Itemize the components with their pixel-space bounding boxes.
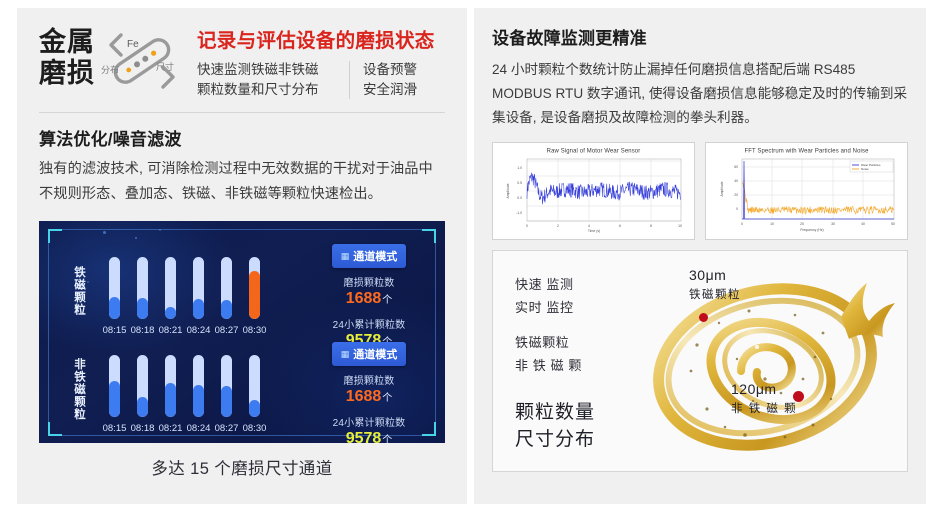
frame-corner xyxy=(422,229,436,243)
bar-fill xyxy=(109,381,120,417)
stat-value: 1688个 xyxy=(313,387,425,408)
chart-fft-plot: 60 40 20 0 0 10 20 30 40 50 Frequency (H… xyxy=(712,153,902,233)
illustration-text-block: 快速 监测 实时 监控 铁磁颗粒 非 铁 磁 颗 颗粒数量 尺寸分布 xyxy=(515,273,595,453)
bar-track xyxy=(165,355,176,417)
chart-fft-spectrum: FFT Spectrum with Wear Particles and Noi… xyxy=(705,142,908,240)
svg-text:Amplitude: Amplitude xyxy=(720,181,724,196)
stat-label: 24小累计颗粒数 xyxy=(313,414,425,429)
channel-ferrous: 铁磁颗粒 08:1508:1808:2108:2408:2708:30 ▦ 通道… xyxy=(59,242,425,340)
illus-spacer xyxy=(515,319,595,331)
wear-sensor-icon: Fe 分布 尺寸 xyxy=(101,27,183,95)
svg-text:30: 30 xyxy=(831,222,835,226)
header-divider xyxy=(39,112,445,113)
bar-column: 08:30 xyxy=(249,355,260,434)
svg-text:60: 60 xyxy=(734,165,738,169)
svg-text:0.5: 0.5 xyxy=(517,181,522,185)
channel-bar-chart: 08:1508:1808:2108:2408:2708:30 xyxy=(93,340,307,438)
bar-time-label: 08:24 xyxy=(187,423,211,434)
bar-track xyxy=(137,355,148,417)
stat-label: 磨损颗粒数 xyxy=(313,372,425,387)
illus-line-2: 实时 监控 xyxy=(515,296,595,319)
bar-fill xyxy=(109,297,120,319)
device-screen: 铁磁颗粒 08:1508:1808:2108:2408:2708:30 ▦ 通道… xyxy=(39,221,445,443)
bar-track xyxy=(249,355,260,417)
legend-label-noise: Noise xyxy=(861,167,869,171)
channel-mode-button[interactable]: ▦ 通道模式 xyxy=(332,342,407,366)
logo-label-distribution: 分布 xyxy=(101,63,119,76)
feature-column-left: 快速监测铁磁非铁磁 颗粒数量和尺寸分布 xyxy=(197,60,349,100)
bar-column: 08:15 xyxy=(109,257,120,336)
svg-text:8: 8 xyxy=(650,224,652,228)
bar-time-label: 08:18 xyxy=(131,325,155,336)
bar-track xyxy=(193,355,204,417)
brand-header: 金属 磨损 xyxy=(39,26,445,100)
chart-title: FFT Spectrum with Wear Particles and Noi… xyxy=(705,147,908,154)
svg-text:Time (s): Time (s) xyxy=(587,229,599,233)
svg-text:40: 40 xyxy=(861,222,865,226)
bar-track xyxy=(165,257,176,319)
brand-name: 金属 磨损 xyxy=(39,26,95,89)
channel-bar-chart: 08:1508:1808:2108:2408:2708:30 xyxy=(93,242,307,340)
bar-fill xyxy=(249,271,260,319)
chart-legend: Wear Particles Noise xyxy=(850,161,893,172)
svg-text:0.0: 0.0 xyxy=(517,196,522,200)
stat-number: 9578 xyxy=(346,430,382,443)
stat-label: 24小累计颗粒数 xyxy=(313,316,425,331)
bar-time-label: 08:18 xyxy=(131,423,155,434)
annotation-name: 铁磁颗粒 xyxy=(689,286,741,302)
feature-right-2: 安全润滑 xyxy=(363,80,443,100)
svg-text:20: 20 xyxy=(800,222,804,226)
bar-time-label: 08:24 xyxy=(187,325,211,336)
bar-column: 08:21 xyxy=(165,355,176,434)
svg-text:0: 0 xyxy=(736,207,738,211)
brand-line-1: 金属 xyxy=(39,27,95,58)
oil-swirl-graphic xyxy=(645,259,908,469)
feature-divider xyxy=(349,61,350,99)
channel-label: 非铁磁颗粒 xyxy=(59,340,93,438)
svg-text:1.0: 1.0 xyxy=(517,166,522,170)
svg-text:20: 20 xyxy=(734,193,738,197)
bar-fill xyxy=(165,383,176,417)
frame-corner xyxy=(48,229,62,243)
charts-row: Raw Signal of Motor Wear Sensor 1.0 0.5 xyxy=(492,142,908,240)
svg-text:10: 10 xyxy=(770,222,774,226)
bar-fill xyxy=(165,307,176,319)
bar-column: 08:18 xyxy=(137,355,148,434)
chart-title: Raw Signal of Motor Wear Sensor xyxy=(492,147,695,154)
section-title: 算法优化/噪音滤波 xyxy=(39,125,445,150)
bar-column: 08:24 xyxy=(193,355,204,434)
svg-text:40: 40 xyxy=(734,179,738,183)
right-title: 设备故障监测更精准 xyxy=(492,24,908,49)
illus-big-line-1: 颗粒数量 xyxy=(515,399,595,426)
logo-label-fe: Fe xyxy=(127,39,139,50)
left-panel: 金属 磨损 xyxy=(17,8,467,504)
stat-wear-count: 磨损颗粒数 1688个 xyxy=(313,274,425,310)
annotation-name: 非 铁 磁 颗 xyxy=(731,400,797,416)
logo-label-size: 尺寸 xyxy=(156,60,174,73)
annotation-non-ferrous: 120μm 非 铁 磁 颗 xyxy=(731,381,797,416)
feature-column-right: 设备预警 安全润滑 xyxy=(363,60,443,100)
brand-line-2: 磨损 xyxy=(39,58,95,89)
channel-stats: ▦ 通道模式 磨损颗粒数 1688个 24小累计颗粒数 9 xyxy=(307,242,425,340)
bar-time-label: 08:27 xyxy=(215,325,239,336)
svg-text:0: 0 xyxy=(526,224,528,228)
bar-time-label: 08:21 xyxy=(159,423,183,434)
stat-number: 1688 xyxy=(346,388,382,405)
bar-fill xyxy=(137,397,148,417)
grid-icon: ▦ xyxy=(341,251,350,262)
bar-fill xyxy=(193,385,204,417)
svg-text:4: 4 xyxy=(588,224,590,228)
stat-unit: 个 xyxy=(382,295,392,306)
headline-block: 记录与评估设备的磨损状态 快速监测铁磁非铁磁 颗粒数量和尺寸分布 设备预警 安全… xyxy=(197,26,443,100)
oil-particle-illustration: 快速 监测 实时 监控 铁磁颗粒 非 铁 磁 颗 颗粒数量 尺寸分布 xyxy=(492,250,908,472)
bar-column: 08:30 xyxy=(249,257,260,336)
channel-mode-label: 通道模式 xyxy=(353,346,397,362)
bar-column: 08:27 xyxy=(221,257,232,336)
illus-big-line-2: 尺寸分布 xyxy=(515,426,595,453)
stat-value: 1688个 xyxy=(313,289,425,310)
bar-track xyxy=(221,355,232,417)
device-frame: 铁磁颗粒 08:1508:1808:2108:2408:2708:30 ▦ 通道… xyxy=(48,229,436,436)
stat-label: 磨损颗粒数 xyxy=(313,274,425,289)
bar-track xyxy=(249,257,260,319)
bar-fill xyxy=(193,299,204,319)
right-panel: 设备故障监测更精准 24 小时颗粒个数统计防止漏掉任何磨损信息搭配后端 RS48… xyxy=(474,8,926,504)
bar-track xyxy=(109,257,120,319)
bar-track xyxy=(193,257,204,319)
svg-text:10: 10 xyxy=(678,224,682,228)
stat-number: 1688 xyxy=(346,290,382,307)
svg-text:6: 6 xyxy=(619,224,621,228)
illus-line-3: 铁磁颗粒 xyxy=(515,331,595,354)
bar-column: 08:15 xyxy=(109,355,120,434)
feature-right-1: 设备预警 xyxy=(363,60,443,80)
bar-column: 08:24 xyxy=(193,257,204,336)
bar-column: 08:27 xyxy=(221,355,232,434)
svg-text:Amplitude: Amplitude xyxy=(506,183,510,198)
stat-unit: 个 xyxy=(382,393,392,404)
illus-line-4: 非 铁 磁 颗 xyxy=(515,354,595,377)
right-body: 24 小时颗粒个数统计防止漏掉任何磨损信息搭配后端 RS485 MODBUS R… xyxy=(492,58,908,130)
channel-non-ferrous: 非铁磁颗粒 08:1508:1808:2108:2408:2708:30 ▦ 通… xyxy=(59,340,425,438)
grid-icon: ▦ xyxy=(341,349,350,360)
feature-left-1: 快速监测铁磁非铁磁 xyxy=(197,60,349,80)
stat-24h-count: 24小累计颗粒数 9578个 xyxy=(313,414,425,443)
bar-fill xyxy=(221,300,232,319)
bar-track xyxy=(137,257,148,319)
channel-mode-label: 通道模式 xyxy=(353,248,397,264)
svg-text:Frequency (Hz): Frequency (Hz) xyxy=(800,228,823,232)
svg-text:50: 50 xyxy=(891,222,895,226)
bar-time-label: 08:15 xyxy=(103,325,127,336)
bar-time-label: 08:15 xyxy=(103,423,127,434)
bar-time-label: 08:27 xyxy=(215,423,239,434)
illus-line-1: 快速 监测 xyxy=(515,273,595,296)
channel-stats: ▦ 通道模式 磨损颗粒数 1688个 24小累计颗粒数 9 xyxy=(307,340,425,438)
headline: 记录与评估设备的磨损状态 xyxy=(197,29,443,53)
bar-track xyxy=(221,257,232,319)
feature-left-2: 颗粒数量和尺寸分布 xyxy=(197,80,349,100)
svg-text:-1.0: -1.0 xyxy=(516,211,522,215)
bar-fill xyxy=(249,400,260,417)
bar-track xyxy=(109,355,120,417)
feature-summary: 快速监测铁磁非铁磁 颗粒数量和尺寸分布 设备预警 安全润滑 xyxy=(197,60,443,100)
bar-time-label: 08:30 xyxy=(243,423,267,434)
chart-raw-signal: Raw Signal of Motor Wear Sensor 1.0 0.5 xyxy=(492,142,695,240)
bar-fill xyxy=(137,298,148,319)
device-caption: 多达 15 个磨损尺寸通道 xyxy=(39,455,445,479)
chart-raw-signal-plot: 1.0 0.5 0.0 -1.0 0 2 4 6 8 10 Time (s) A… xyxy=(499,153,689,233)
bar-time-label: 08:21 xyxy=(159,325,183,336)
section-body: 独有的滤波技术, 可消除检测过程中无效数据的干扰对于油品中不规则形态、叠加态、铁… xyxy=(39,157,445,207)
channel-mode-button[interactable]: ▦ 通道模式 xyxy=(332,244,407,268)
svg-text:2: 2 xyxy=(557,224,559,228)
channel-label: 铁磁颗粒 xyxy=(59,242,93,340)
stat-wear-count: 磨损颗粒数 1688个 xyxy=(313,372,425,408)
bar-fill xyxy=(221,386,232,417)
annotation-size: 120μm xyxy=(731,381,797,397)
marker-ferrous xyxy=(699,313,708,322)
bar-column: 08:18 xyxy=(137,257,148,336)
stat-value: 9578个 xyxy=(313,429,425,443)
stat-unit: 个 xyxy=(382,435,392,443)
bar-time-label: 08:30 xyxy=(243,325,267,336)
annotation-ferrous: 30μm 铁磁颗粒 xyxy=(689,267,741,302)
promo-page: 金属 磨损 xyxy=(0,0,934,511)
annotation-size: 30μm xyxy=(689,267,741,283)
svg-text:0: 0 xyxy=(741,222,743,226)
bar-column: 08:21 xyxy=(165,257,176,336)
